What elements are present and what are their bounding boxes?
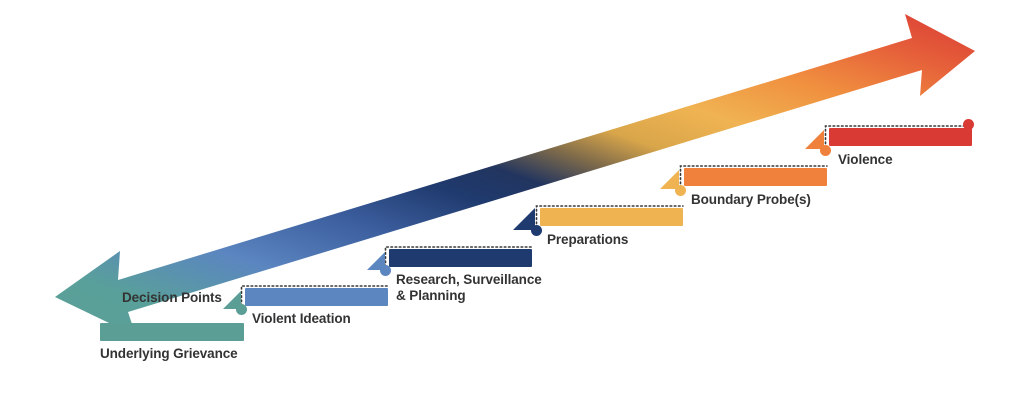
label-line-2: & Planning bbox=[396, 288, 466, 303]
label-violent-ideation: Violent Ideation bbox=[252, 311, 351, 327]
end-dot-violence bbox=[963, 119, 974, 130]
bar-underlying-grievance bbox=[100, 323, 244, 341]
label-research-surveillance-planning: Research, Surveillance & Planning bbox=[396, 272, 571, 304]
decision-point-dot-boundary-probes bbox=[675, 185, 686, 196]
label-violence: Violence bbox=[838, 152, 892, 168]
bar-violence bbox=[829, 128, 972, 146]
label-boundary-probes: Boundary Probe(s) bbox=[691, 192, 811, 208]
label-underlying-grievance: Underlying Grievance bbox=[100, 346, 238, 362]
label-decision-points: Decision Points bbox=[122, 290, 222, 306]
bar-boundary-probes bbox=[684, 168, 827, 186]
label-line-1: Research, Surveillance bbox=[396, 272, 542, 287]
bar-preparations bbox=[540, 208, 683, 226]
decision-point-dot-violent-ideation bbox=[236, 304, 247, 315]
decision-point-dot-preparations bbox=[531, 225, 542, 236]
pathway-to-violence-diagram: Underlying Grievance Violent Ideation De… bbox=[0, 0, 1024, 402]
bar-violent-ideation bbox=[245, 288, 388, 306]
label-preparations: Preparations bbox=[547, 232, 628, 248]
bar-research-surveillance-planning bbox=[389, 249, 532, 267]
decision-point-dot-research-surveillance-planning bbox=[380, 265, 391, 276]
decision-point-dot-violence bbox=[820, 145, 831, 156]
pathway-gradient-arrow bbox=[0, 0, 1024, 402]
